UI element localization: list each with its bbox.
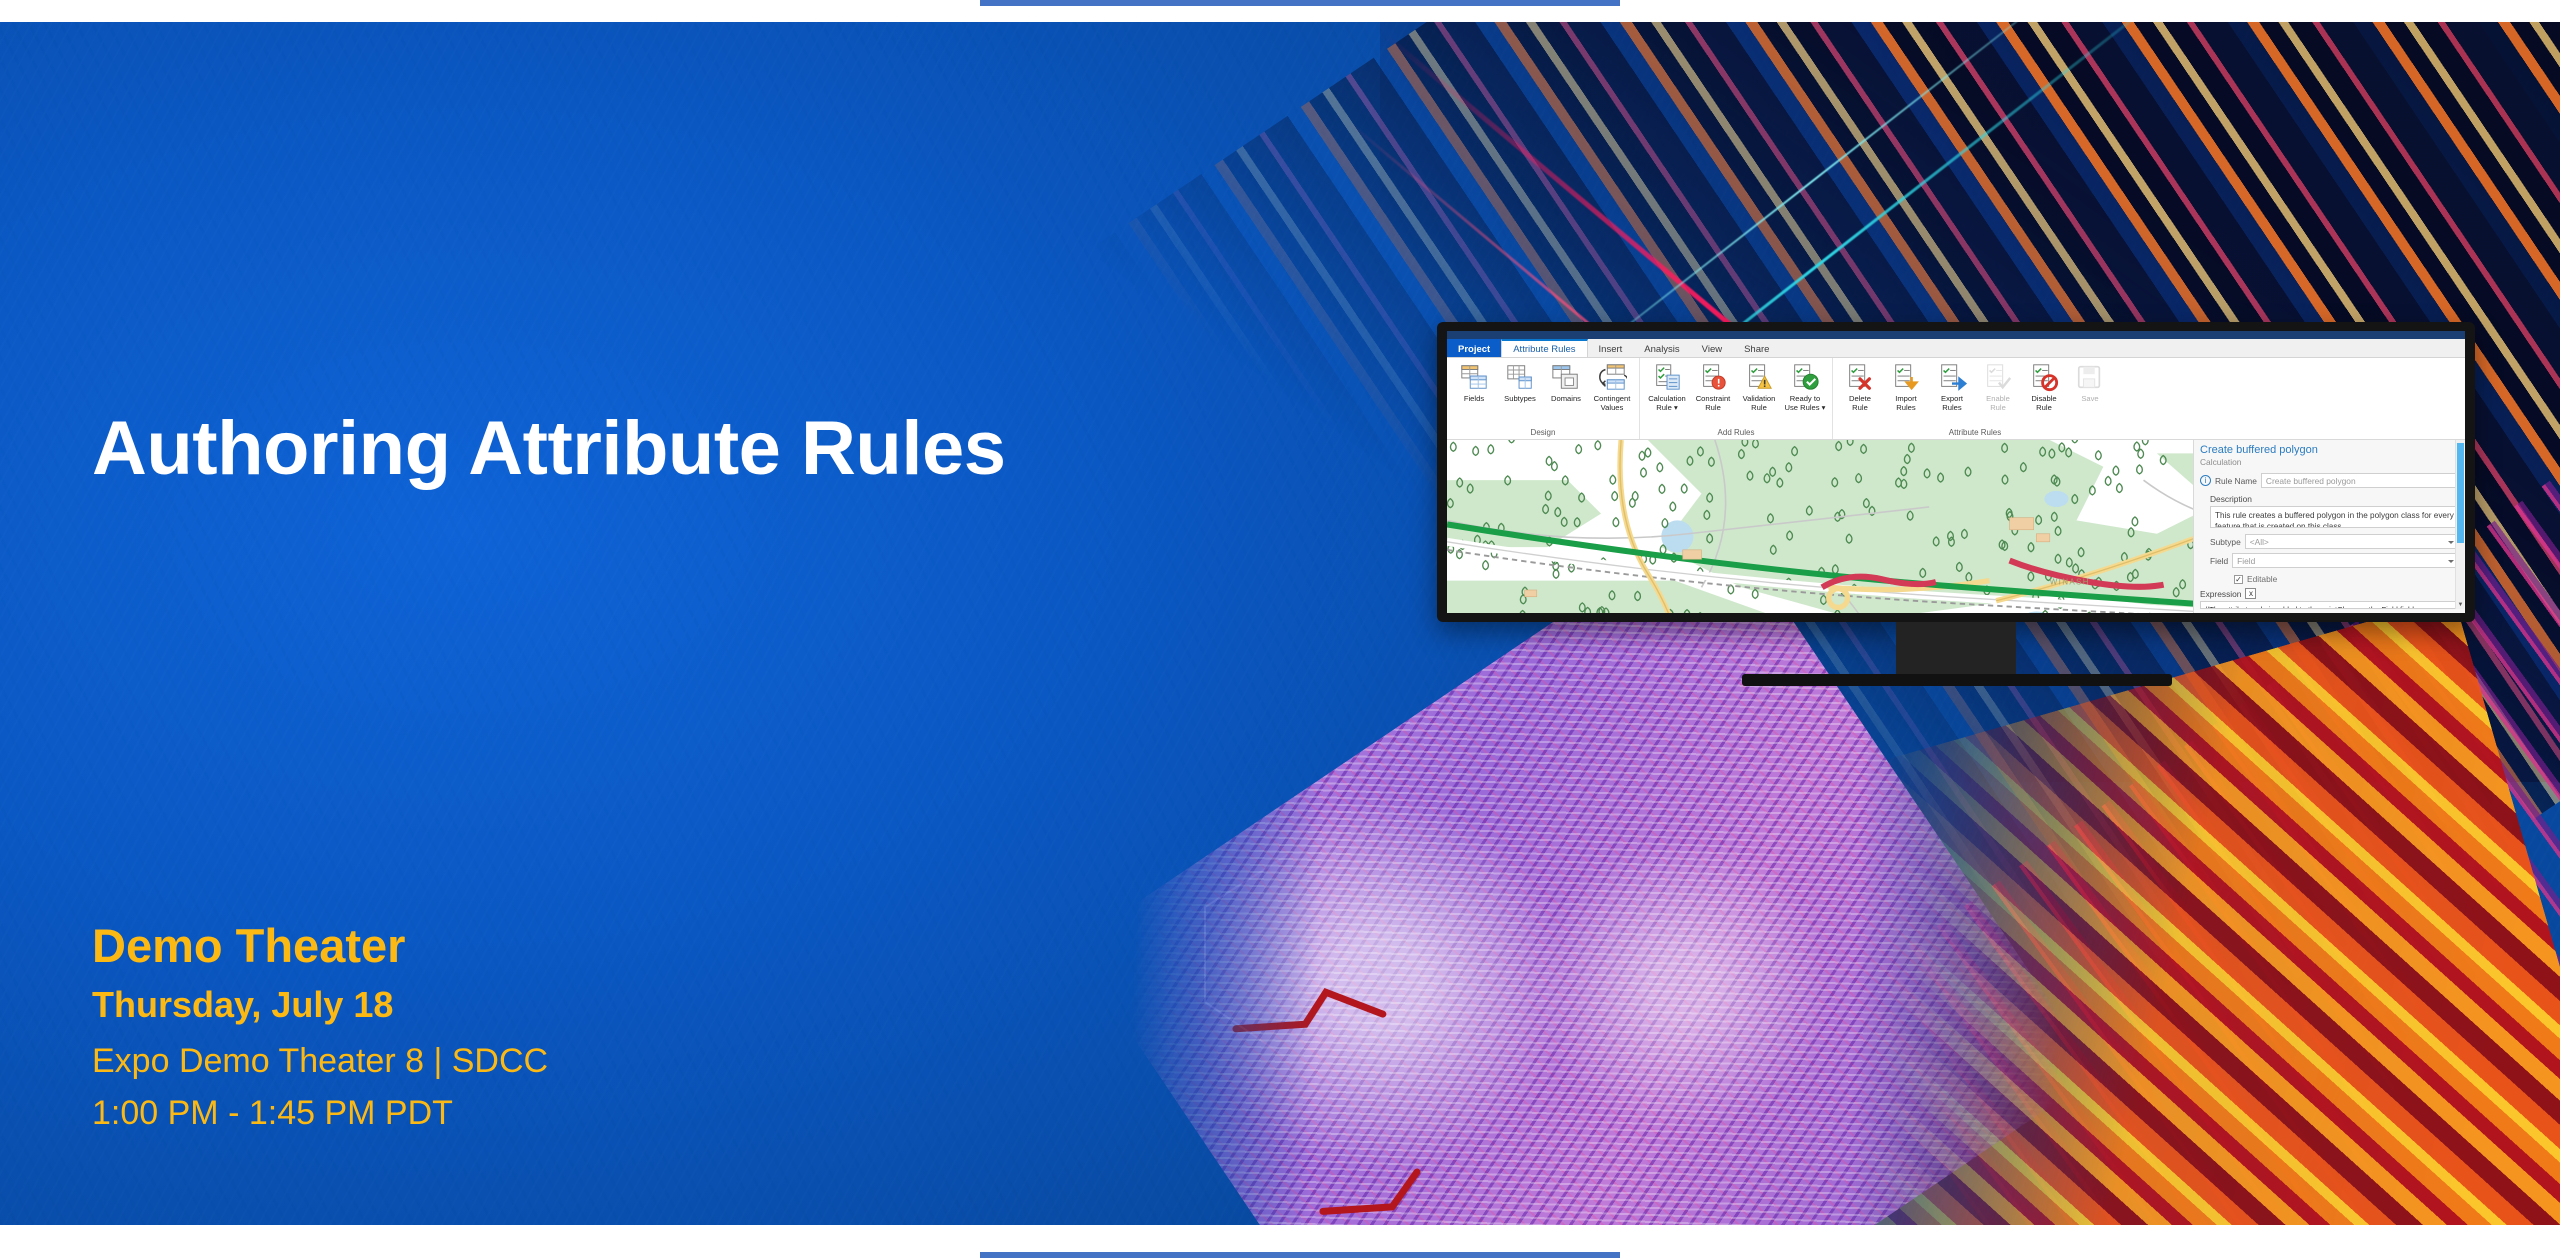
monitor-stand-neck — [1896, 622, 2016, 678]
code-scrollbar[interactable]: ▲ ▼ — [2455, 440, 2464, 609]
import-rules-button[interactable]: Import Rules — [1883, 362, 1929, 412]
disable-rule-icon — [2029, 362, 2059, 392]
ready-to-use-rules-button[interactable]: Ready to Use Rules ▾ — [1782, 362, 1828, 412]
ready-to-use-rules-icon — [1790, 362, 1820, 392]
description-label: Description — [2210, 494, 2459, 504]
pane-subtitle: Calculation — [2200, 457, 2459, 467]
subtypes-button[interactable]: Subtypes — [1497, 362, 1543, 403]
rule-name-label: Rule Name — [2215, 476, 2257, 486]
subtypes-table-icon — [1505, 362, 1535, 392]
svg-text:WINASH: WINASH — [2050, 578, 2090, 587]
tab-analysis[interactable]: Analysis — [1633, 339, 1690, 357]
monitor-stand-base — [1742, 674, 2172, 686]
save-label: Save — [2081, 394, 2098, 403]
editable-checkbox[interactable]: ✓ — [2234, 575, 2243, 584]
presentation-slide: Authoring Attribute Rules Demo Theater T… — [0, 0, 2560, 1260]
save-button[interactable]: Save — [2067, 362, 2113, 403]
tab-attribute-rules[interactable]: Attribute Rules — [1501, 339, 1587, 357]
arcgis-pro-window: Project Attribute Rules Insert Analysis … — [1447, 331, 2465, 613]
subtypes-label: Subtypes — [1504, 394, 1536, 403]
group-label-design: Design — [1451, 428, 1635, 439]
delete-rule-button[interactable]: Delete Rule — [1837, 362, 1883, 412]
rule-name-row: i Rule Name Create buffered polygon — [2200, 473, 2459, 488]
enable-rule-label: Enable Rule — [1986, 394, 2010, 412]
ready-to-use-rules-label: Ready to Use Rules ▾ — [1785, 394, 1826, 412]
slide-canvas: Authoring Attribute Rules Demo Theater T… — [0, 22, 2560, 1225]
page-title: Authoring Attribute Rules — [92, 407, 1006, 491]
import-rules-icon — [1891, 362, 1921, 392]
session-type: Demo Theater — [92, 917, 548, 975]
domains-table-icon — [1551, 362, 1581, 392]
ribbon-tab-strip[interactable]: Project Attribute Rules Insert Analysis … — [1447, 339, 2465, 358]
disable-rule-label: Disable Rule — [2031, 394, 2056, 412]
validation-rule-button[interactable]: Validation Rule — [1736, 362, 1782, 412]
expression-header: Expression x — [2200, 588, 2459, 599]
field-select[interactable]: Field — [2232, 553, 2459, 568]
calculation-rule-label: Calculation Rule ▾ — [1648, 394, 1686, 412]
export-rules-label: Export Rules — [1941, 394, 1963, 412]
scrollbar-thumb[interactable] — [2457, 443, 2464, 543]
domains-label: Domains — [1551, 394, 1581, 403]
fields-table-icon — [1459, 362, 1489, 392]
contingent-values-button[interactable]: Contingent Values — [1589, 362, 1635, 412]
map-and-pane: WINASH — [1447, 440, 2465, 613]
constraint-rule-icon — [1698, 362, 1728, 392]
top-accent-bar — [980, 0, 1620, 6]
bottom-accent-bar — [980, 1252, 1620, 1258]
editable-checkbox-row[interactable]: ✓ Editable — [2234, 574, 2459, 584]
editable-label: Editable — [2247, 574, 2277, 584]
expression-label: Expression — [2200, 589, 2241, 599]
session-location: Expo Demo Theater 8 | SDCC — [92, 1038, 548, 1084]
domains-button[interactable]: Domains — [1543, 362, 1589, 403]
enable-rule-button[interactable]: Enable Rule — [1975, 362, 2021, 412]
ribbon-group-add-rules: Calculation Rule ▾ — [1640, 358, 1833, 439]
delete-rule-label: Delete Rule — [1849, 394, 1871, 412]
monitor-screen: Project Attribute Rules Insert Analysis … — [1447, 331, 2465, 613]
validation-rule-label: Validation Rule — [1743, 394, 1776, 412]
session-time: 1:00 PM - 1:45 PM PDT — [92, 1090, 548, 1136]
disable-rule-button[interactable]: Disable Rule — [2021, 362, 2067, 412]
tab-view[interactable]: View — [1691, 339, 1733, 357]
fields-label: Fields — [1464, 394, 1484, 403]
expression-code-editor[interactable]: //The attribute rule is added to the poi… — [2200, 601, 2459, 609]
subtype-row: Subtype <All> — [2200, 534, 2459, 549]
fields-button[interactable]: Fields — [1451, 362, 1497, 403]
session-date: Thursday, July 18 — [92, 981, 548, 1029]
rule-name-input[interactable]: Create buffered polygon — [2261, 473, 2459, 488]
calculation-rule-button[interactable]: Calculation Rule ▾ — [1644, 362, 1690, 412]
field-row: Field Field — [2200, 553, 2459, 568]
info-icon[interactable]: i — [2200, 475, 2211, 486]
scroll-down-arrow[interactable]: ▼ — [2457, 602, 2464, 609]
abstract-graphics — [1100, 22, 2560, 1225]
tab-insert[interactable]: Insert — [1588, 339, 1634, 357]
expression-builder-icon[interactable]: x — [2245, 588, 2256, 599]
ribbon-group-attribute-rules: Delete Rule — [1833, 358, 2117, 439]
subtype-select[interactable]: <All> — [2245, 534, 2459, 549]
contingent-values-icon — [1597, 362, 1627, 392]
export-rules-icon — [1937, 362, 1967, 392]
ribbon-group-design: Fields — [1447, 358, 1640, 439]
subtype-label: Subtype — [2210, 537, 2241, 547]
group-label-attribute-rules: Attribute Rules — [1837, 428, 2113, 439]
delete-rule-icon — [1845, 362, 1875, 392]
calculation-rule-icon — [1652, 362, 1682, 392]
constraint-rule-button[interactable]: Constraint Rule — [1690, 362, 1736, 412]
contingent-values-label: Contingent Values — [1594, 394, 1631, 412]
attribute-rule-pane[interactable]: Create buffered polygon Calculation i Ru… — [2193, 440, 2465, 613]
constraint-rule-label: Constraint Rule — [1696, 394, 1731, 412]
group-label-add-rules: Add Rules — [1644, 428, 1828, 439]
validation-rule-icon — [1744, 362, 1774, 392]
description-textarea[interactable]: This rule creates a buffered polygon in … — [2210, 506, 2459, 528]
save-icon — [2075, 362, 2105, 392]
session-details: Demo Theater Thursday, July 18 Expo Demo… — [92, 917, 548, 1136]
export-rules-button[interactable]: Export Rules — [1929, 362, 1975, 412]
tab-share[interactable]: Share — [1733, 339, 1780, 357]
pane-title: Create buffered polygon — [2200, 444, 2459, 456]
monitor-mockup: Project Attribute Rules Insert Analysis … — [1437, 322, 2475, 622]
tab-project[interactable]: Project — [1447, 339, 1501, 357]
window-titlebar — [1447, 331, 2465, 339]
import-rules-label: Import Rules — [1895, 394, 1917, 412]
ribbon[interactable]: Fields — [1447, 358, 2465, 440]
field-label: Field — [2210, 556, 2228, 566]
enable-rule-icon — [1983, 362, 2013, 392]
